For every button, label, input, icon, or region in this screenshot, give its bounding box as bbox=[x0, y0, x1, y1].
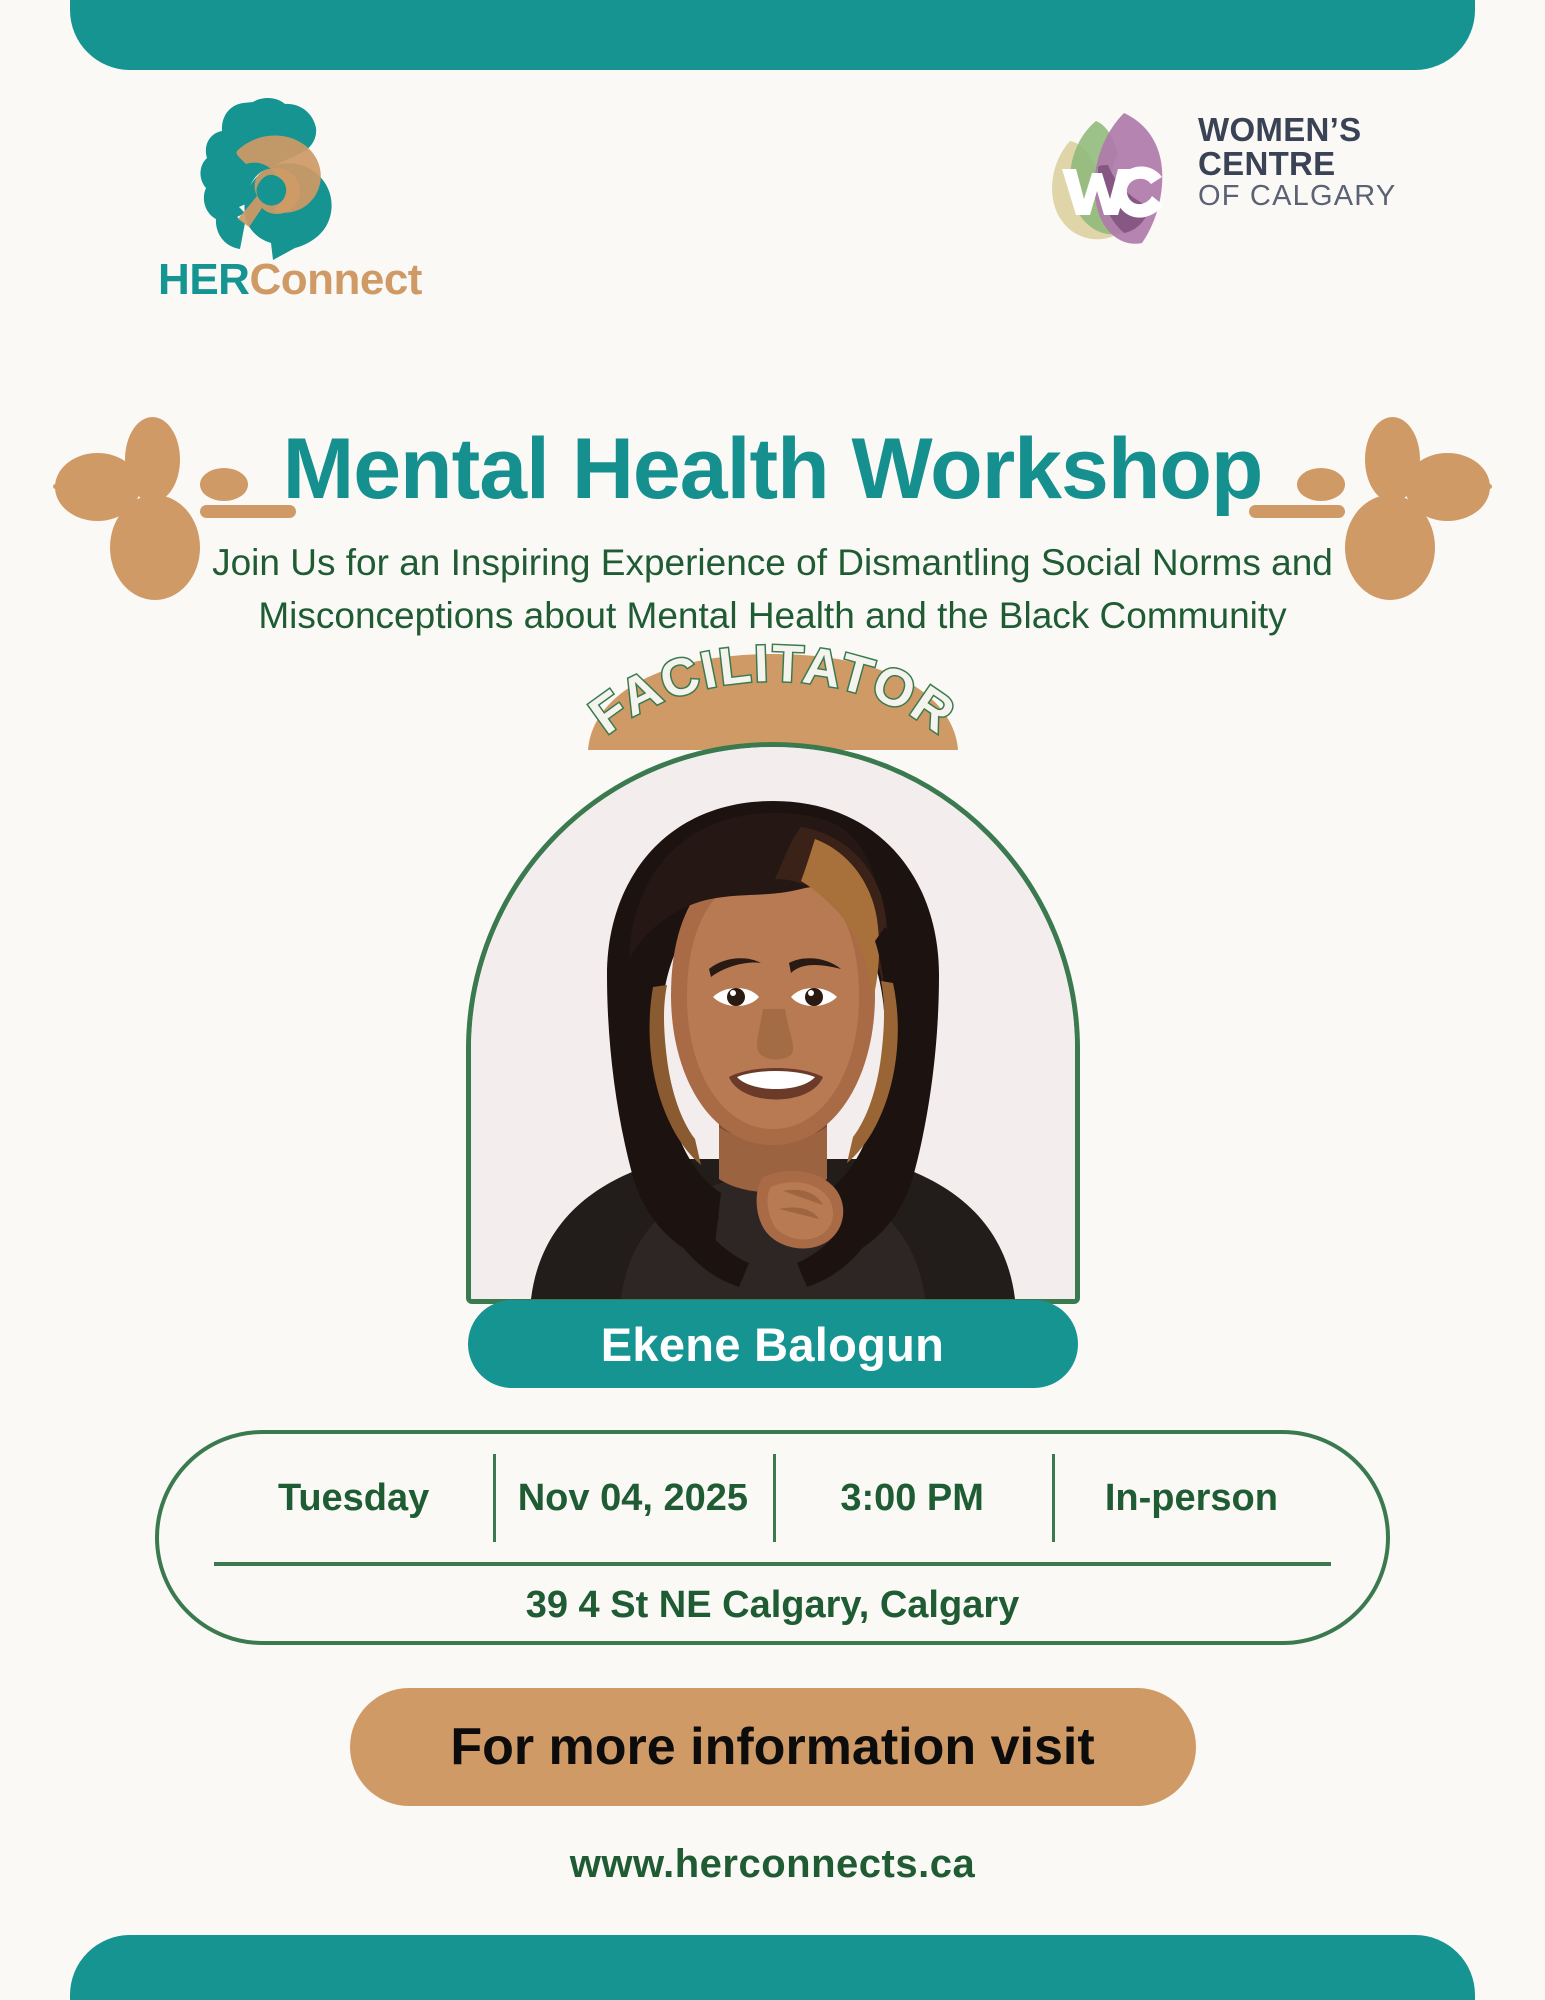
portrait-frame bbox=[466, 742, 1080, 1304]
herconnect-word-her: HER bbox=[158, 255, 249, 304]
wc-line-2: CENTRE bbox=[1198, 147, 1396, 181]
event-format: In-person bbox=[1052, 1477, 1331, 1520]
event-date: Nov 04, 2025 bbox=[493, 1477, 772, 1520]
more-information-button[interactable]: For more information visit bbox=[350, 1688, 1196, 1806]
more-information-label: For more information visit bbox=[450, 1717, 1094, 1777]
facilitator-name: Ekene Balogun bbox=[601, 1317, 944, 1372]
facilitator-name-badge: Ekene Balogun bbox=[468, 1300, 1078, 1388]
website-url[interactable]: www.herconnects.ca bbox=[0, 1842, 1545, 1887]
facilitator-photo bbox=[466, 742, 1080, 1304]
event-details-row: Tuesday Nov 04, 2025 3:00 PM In-person bbox=[214, 1434, 1331, 1562]
facilitator-banner: FACILITATOR bbox=[558, 638, 988, 750]
poster-subtitle: Join Us for an Inspiring Experience of D… bbox=[150, 537, 1395, 642]
herconnect-logo: HERConnect bbox=[125, 95, 455, 310]
herconnect-word-connect: Connect bbox=[249, 255, 422, 304]
womens-centre-logo: WOMEN’S CENTRE OF CALGARY bbox=[1040, 107, 1440, 247]
event-day: Tuesday bbox=[214, 1477, 493, 1520]
wc-petal-logo bbox=[1040, 107, 1180, 247]
poster-header: HERConnect WOMEN’S CENTRE OF CALGARY bbox=[0, 95, 1545, 305]
bottom-teal-band bbox=[70, 1935, 1475, 2000]
event-address: 39 4 St NE Calgary, Calgary bbox=[159, 1566, 1386, 1645]
event-time: 3:00 PM bbox=[773, 1477, 1052, 1520]
herconnect-wordmark: HERConnect bbox=[125, 255, 455, 305]
event-poster: HERConnect WOMEN’S CENTRE OF CALGARY bbox=[0, 0, 1545, 2000]
portrait-illustration bbox=[471, 747, 1075, 1299]
top-teal-band bbox=[70, 0, 1475, 70]
woman-profile-icon bbox=[185, 95, 365, 260]
wc-line-3: OF CALGARY bbox=[1198, 182, 1396, 212]
womens-centre-wordmark: WOMEN’S CENTRE OF CALGARY bbox=[1198, 113, 1396, 212]
wc-line-1: WOMEN’S bbox=[1198, 113, 1396, 147]
event-details-panel: Tuesday Nov 04, 2025 3:00 PM In-person 3… bbox=[155, 1430, 1390, 1645]
poster-title: Mental Health Workshop bbox=[0, 426, 1545, 512]
